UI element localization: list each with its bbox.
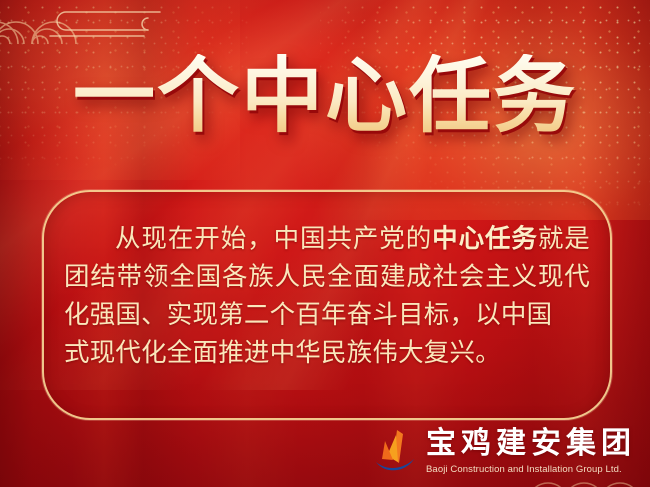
poster-canvas: 一个中心任务 从现在开始，中国共产党的中心任务就是团结带领全国各族人民全面建成社…: [0, 0, 650, 487]
logo-name-en: Baoji Construction and Installation Grou…: [426, 465, 636, 475]
quote-text: 从现在开始，中国共产党的中心任务就是团结带领全国各族人民全面建成社会主义现代化强…: [64, 220, 590, 372]
ruyi-line-ornament-icon: [48, 6, 163, 40]
title-area: 一个中心任务: [0, 54, 650, 169]
quote-segment-1: 从现在开始，中国共产党的: [115, 225, 432, 253]
logo-text-block: 宝鸡建安集团 Baoji Construction and Installati…: [426, 429, 636, 475]
baoji-sail-logo-icon: [373, 429, 417, 475]
poster-title: 一个中心任务: [73, 54, 577, 140]
company-logo: 宝鸡建安集团 Baoji Construction and Installati…: [373, 429, 636, 475]
quote-last-line: 式现代化全面推进中华民族伟大复兴。: [64, 334, 590, 372]
quote-box: 从现在开始，中国共产党的中心任务就是团结带领全国各族人民全面建成社会主义现代化强…: [42, 190, 612, 420]
quote-segment-emphasis: 中心任务: [432, 225, 538, 253]
logo-name-cn: 宝鸡建安集团: [426, 429, 636, 459]
